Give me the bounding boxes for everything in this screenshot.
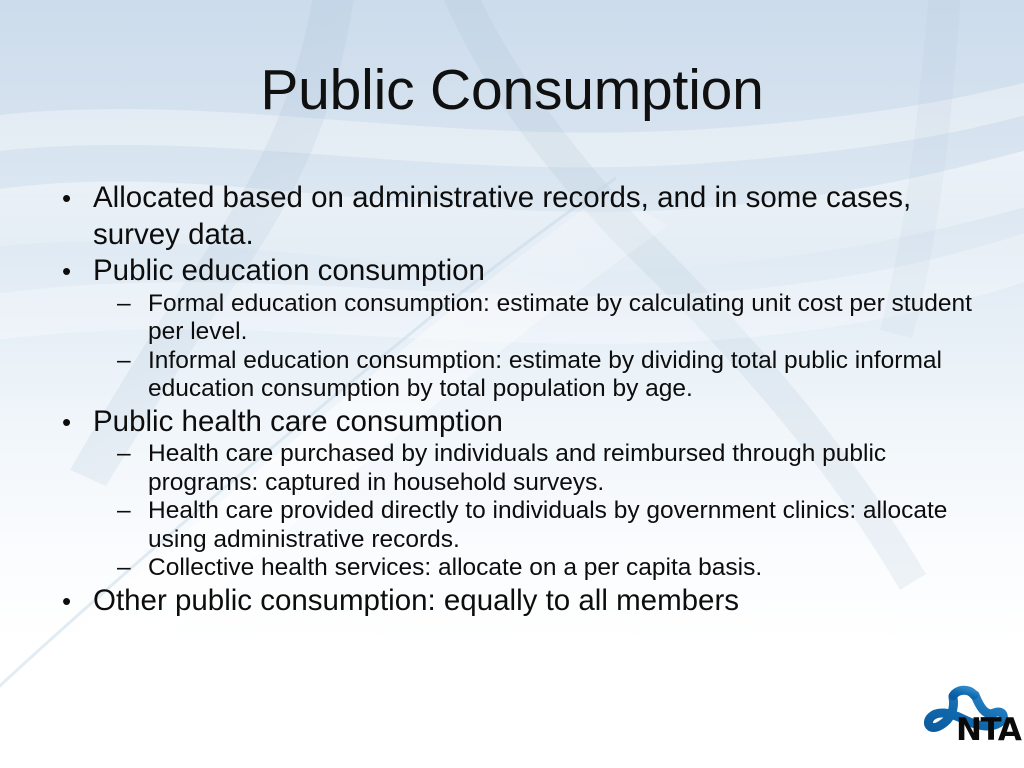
slide-title: Public Consumption — [0, 58, 1024, 122]
bullet-dot-icon: • — [62, 583, 71, 620]
bullet-dot-icon: • — [62, 253, 71, 290]
bullet-dot-icon: • — [62, 404, 71, 441]
bullet-dash-icon: – — [117, 347, 131, 376]
bullet-level2: – Informal education consumption: estima… — [56, 347, 976, 404]
bullet-text: Collective health services: allocate on … — [148, 554, 762, 581]
bullet-level1: • Public health care consumption — [56, 404, 976, 441]
bullet-level2: – Collective health services: allocate o… — [56, 554, 976, 583]
bullet-dash-icon: – — [117, 554, 131, 583]
nta-wordmark: NTA — [956, 715, 1020, 746]
bullet-text: Allocated based on administrative record… — [93, 181, 911, 251]
bullet-text: Health care provided directly to individ… — [148, 497, 947, 553]
bullet-level2: – Health care purchased by individuals a… — [56, 440, 976, 497]
bullet-text: Other public consumption: equally to all… — [93, 584, 739, 617]
bullet-text: Public health care consumption — [93, 405, 503, 438]
bullet-text: Health care purchased by individuals and… — [148, 440, 886, 496]
bullet-dot-icon: • — [62, 180, 71, 217]
bullet-dash-icon: – — [117, 290, 131, 319]
bullet-level1: • Other public consumption: equally to a… — [56, 583, 976, 620]
bullet-dash-icon: – — [117, 440, 131, 469]
bullet-level2: – Formal education consumption: estimate… — [56, 290, 976, 347]
bullet-level1: • Allocated based on administrative reco… — [56, 180, 976, 253]
bullet-level2: – Health care provided directly to indiv… — [56, 497, 976, 554]
bullet-text: Informal education consumption: estimate… — [148, 347, 942, 403]
bullet-level1: • Public education consumption — [56, 253, 976, 290]
slide: Public Consumption • Allocated based on … — [0, 0, 1024, 768]
slide-body: • Allocated based on administrative reco… — [56, 180, 976, 619]
bullet-dash-icon: – — [117, 497, 131, 526]
bullet-text: Public education consumption — [93, 254, 485, 287]
bullet-text: Formal education consumption: estimate b… — [148, 290, 972, 346]
nta-logo: NTA — [915, 683, 1020, 761]
